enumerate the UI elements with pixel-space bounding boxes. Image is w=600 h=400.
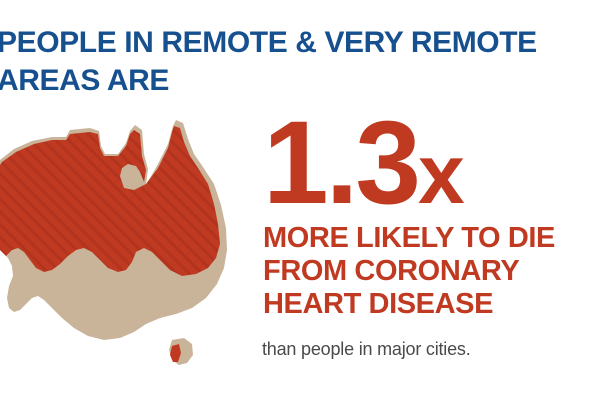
australia-map [0,112,248,370]
footnote-text: than people in major cities. [262,338,471,360]
page-title: PEOPLE IN REMOTE & VERY REMOTE AREAS ARE [0,24,600,100]
stat-number: 1.3 [263,97,418,229]
statement-block: MORE LIKELY TO DIE FROM CORONARY HEART D… [263,222,600,321]
map-tasmania [169,338,193,365]
headline-line-1: PEOPLE IN REMOTE & VERY REMOTE [0,24,600,62]
stat-value: 1.3x [263,104,464,233]
infographic-canvas: PEOPLE IN REMOTE & VERY REMOTE AREAS ARE [0,0,600,400]
stat-multiplier: x [418,127,464,221]
headline-line-2: AREAS ARE [0,62,600,100]
statement-line-1: MORE LIKELY TO DIE [263,222,600,255]
statement-line-3: HEART DISEASE [263,288,600,321]
statement-line-2: FROM CORONARY [263,255,600,288]
australia-map-svg [0,112,248,370]
